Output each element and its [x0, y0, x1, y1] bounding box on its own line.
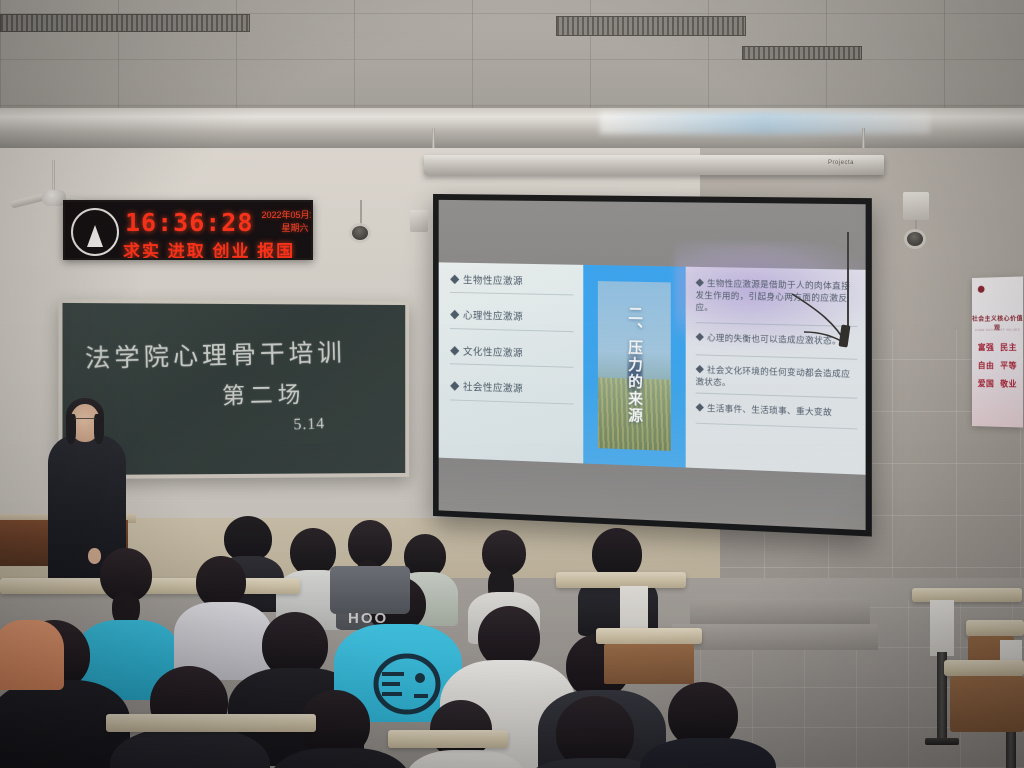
presentation-slide: ◆ 生物性应激源 ◆ 心理性应激源 ◆ 文化性应激源 ◆ 社会性应激源: [439, 200, 866, 530]
led-date-block: 2022年05月14日 星期六: [255, 209, 313, 235]
stage-step-lower: [672, 624, 878, 650]
presenter-hand: [88, 548, 101, 564]
empty-desk-back-3: [950, 676, 1024, 732]
slide-middle-photo: 二、压力的来源: [598, 281, 672, 451]
arrow-clock-icon: [71, 208, 119, 256]
desk-row-front-3: [596, 628, 702, 644]
slide-right-bullet-2: ◆ 社会文化环境的任何变动都会造成应激状态。: [696, 359, 858, 399]
student-head: [196, 556, 246, 608]
wall-junction-box: [410, 210, 428, 232]
stage-step-upper: [690, 598, 870, 624]
slide-right-bullet-3: ◆ 生活事件、生活琐事、重大变故: [696, 398, 858, 430]
slide-left-bullet-3: ◆ 社会性应激源: [450, 381, 574, 404]
led-date: 2022年05月14日: [255, 209, 313, 222]
projection-screen: ◆ 生物性应激源 ◆ 心理性应激源 ◆ 文化性应激源 ◆ 社会性应激源: [433, 194, 872, 537]
right-wall-device-box: [903, 192, 929, 220]
backpack: [330, 566, 410, 614]
dome-security-camera-right: [907, 232, 923, 246]
empty-desk-panel-1: [930, 600, 954, 656]
poster-value: 自由: [978, 360, 995, 371]
poster-values-list: 富强 民主 自由 平等 爱国 敬业: [972, 342, 1023, 390]
slide-left-bullet-2: ◆ 文化性应激源: [450, 345, 574, 368]
blackboard-line-1: 法学院心理骨干培训: [84, 333, 346, 375]
student-orange-top: [0, 620, 64, 690]
bullet-text: ◆ 社会性应激源: [450, 381, 574, 398]
desk-back-panel: [604, 644, 694, 684]
ceiling-fan-rod: [52, 160, 55, 194]
slide-section-title: 二、压力的来源: [625, 306, 642, 425]
dome-security-camera-left: [352, 226, 368, 240]
bag-text: HOO: [348, 610, 388, 627]
cartoon-face-graphic: [370, 650, 444, 716]
slide-middle-panel: 二、压力的来源: [583, 264, 685, 467]
camera-wire-left: [360, 200, 362, 228]
poster-subheading: CORE SOCIALIST VALUES: [972, 327, 1023, 332]
empty-desk-top-2: [966, 620, 1024, 636]
core-values-poster: 社会主义核心价值观 CORE SOCIALIST VALUES 富强 民主 自由…: [972, 276, 1023, 427]
empty-desk-top-1: [912, 588, 1022, 602]
projection-screen-housing: [424, 155, 884, 175]
student-head: [290, 528, 336, 576]
desk-row-front: [106, 714, 316, 732]
hanging-wire-icon: [790, 292, 860, 352]
empty-desk-top-3: [944, 660, 1024, 676]
poster-value: 爱国: [978, 378, 995, 389]
poster-value: 富强: [978, 342, 995, 353]
slide-left-column: ◆ 生物性应激源 ◆ 心理性应激源 ◆ 文化性应激源 ◆ 社会性应激源: [439, 262, 584, 463]
poster-values-row: 富强 民主: [972, 342, 1023, 353]
bullet-text: ◆ 社会文化环境的任何变动都会造成应激状态。: [696, 363, 858, 393]
ceiling-vent-left: [0, 14, 250, 32]
bullet-text: ◆ 文化性应激源: [450, 345, 574, 362]
poster-value: 民主: [1000, 342, 1017, 353]
desk-row-front-2: [388, 730, 508, 748]
slide-left-bullet-1: ◆ 心理性应激源: [450, 310, 574, 332]
bullet-text: ◆ 生活事件、生活琐事、重大变故: [696, 402, 858, 420]
university-logo-icon: [978, 286, 985, 293]
poster-value: 平等: [1000, 360, 1017, 371]
student-head: [478, 606, 540, 668]
slide-left-bullet-0: ◆ 生物性应激源: [450, 274, 574, 296]
bullet-text: ◆ 心理性应激源: [450, 310, 574, 326]
led-time: 16:36:28: [125, 208, 253, 237]
ceiling-vent-center: [556, 16, 746, 36]
poster-values-row: 自由 平等: [972, 360, 1023, 371]
bullet-text: ◆ 生物性应激源: [450, 274, 574, 290]
glasses-icon: [73, 418, 97, 425]
blackboard-line-3: 5.14: [293, 415, 325, 434]
empty-desk-foot-1: [925, 738, 959, 745]
poster-value: 敬业: [1000, 378, 1017, 389]
arrow-glyph: [87, 225, 103, 247]
poster-values-row: 爱国 敬业: [972, 378, 1023, 390]
screen-brand-label: Projecta: [828, 160, 854, 166]
led-motto: 求实 进取 创业 报国: [123, 237, 295, 260]
ceiling-vent-right: [742, 46, 862, 60]
beam-light-reflection: [600, 112, 930, 134]
led-weekday: 星期六: [255, 222, 313, 235]
blackboard-line-2: 第二场: [222, 375, 306, 410]
classroom-photo: 16:36:28 2022年05月14日 星期六 求实 进取 创业 报国 Pro…: [0, 0, 1024, 768]
led-clock-sign: 16:36:28 2022年05月14日 星期六 求实 进取 创业 报国: [63, 200, 313, 260]
